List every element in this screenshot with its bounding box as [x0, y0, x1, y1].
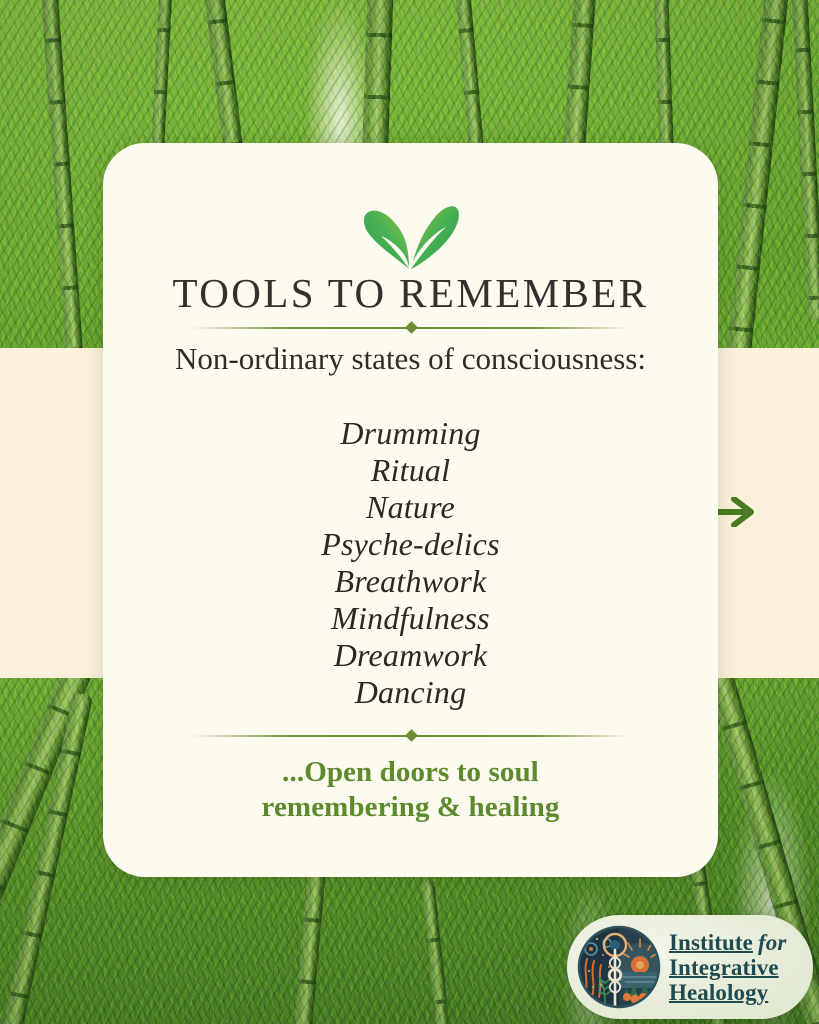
list-item: Psyche-delics: [143, 526, 678, 563]
brand-line-1: Institutefor: [669, 930, 786, 955]
list-item: Dreamwork: [143, 637, 678, 674]
brand-logo[interactable]: Institutefor Integrative Healology: [567, 915, 813, 1019]
brand-line-3: Healology: [669, 980, 786, 1005]
list-item: Ritual: [143, 452, 678, 489]
brand-line-3-text: Healology: [669, 980, 768, 1005]
brand-line-2-text: Integrative: [669, 955, 779, 980]
list-item: Breathwork: [143, 563, 678, 600]
institute-emblem-icon: [577, 925, 661, 1009]
content-card: TOOLS TO REMEMBER Non-ordinary states of…: [103, 143, 718, 877]
list-item: Mindfulness: [143, 600, 678, 637]
poster-canvas: TOOLS TO REMEMBER Non-ordinary states of…: [0, 0, 819, 1024]
brand-line-1-for: for: [758, 930, 786, 955]
diamond-icon: [405, 321, 418, 334]
tagline-line-1: ...Open doors to soul: [153, 755, 668, 790]
diamond-icon: [405, 729, 418, 742]
tagline: ...Open doors to soul remembering & heal…: [153, 755, 668, 825]
brand-name: Institutefor Integrative Healology: [669, 930, 786, 1005]
list-item: Drumming: [143, 415, 678, 452]
list-item: Dancing: [143, 674, 678, 711]
lead-text: Non-ordinary states of consciousness:: [143, 339, 678, 378]
list-item: Nature: [143, 489, 678, 526]
divider-bottom: [191, 729, 631, 743]
tagline-line-2: remembering & healing: [153, 790, 668, 825]
page-title: TOOLS TO REMEMBER: [103, 269, 718, 317]
two-leaves-icon: [103, 197, 718, 271]
brand-line-1-main: Institute: [669, 930, 753, 955]
brand-line-2: Integrative: [669, 955, 786, 980]
tools-list: Drumming Ritual Nature Psyche-delics Bre…: [143, 415, 678, 711]
divider-top: [191, 321, 631, 335]
